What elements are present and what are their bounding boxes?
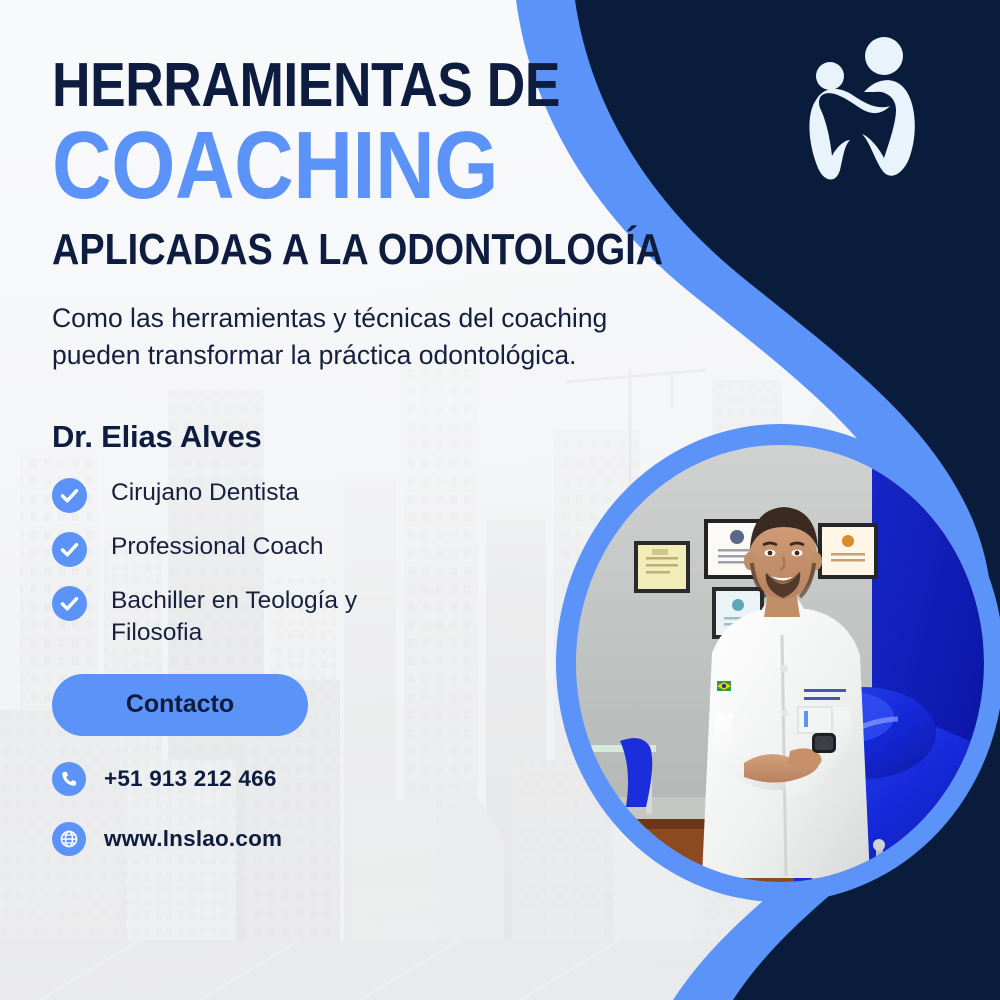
credential-label: Professional Coach [111,531,323,563]
lede-paragraph: Como las herramientas y técnicas del coa… [52,300,612,375]
check-circle-icon [52,478,87,513]
tooth-two-people-logo [786,28,934,188]
person-name: Dr. Elias Alves [52,419,672,455]
website-url: www.lnslao.com [104,826,282,852]
contact-website-row[interactable]: www.lnslao.com [52,822,672,856]
poster-canvas: HERRAMIENTAS DE COACHING APLICADAS A LA … [0,0,1000,1000]
globe-icon [52,822,86,856]
contact-phone-row[interactable]: +51 913 212 466 [52,762,672,796]
headline-line-2: COACHING [52,120,585,212]
content-column: HERRAMIENTAS DE COACHING APLICADAS A LA … [52,0,672,1000]
logo-large-head [865,37,903,75]
logo-tooth-right-body [862,80,915,176]
check-circle-icon [52,586,87,621]
phone-number: +51 913 212 466 [104,766,277,792]
credential-label: Bachiller en Teología y Filosofia [111,585,441,650]
credentials-list: Cirujano Dentista Professional Coach Bac… [52,477,672,650]
list-item: Professional Coach [52,531,672,567]
check-circle-icon [52,532,87,567]
credential-label: Cirujano Dentista [111,477,299,509]
list-item: Bachiller en Teología y Filosofia [52,585,672,650]
list-item: Cirujano Dentista [52,477,672,513]
logo-small-head [816,62,844,90]
phone-icon [52,762,86,796]
logo-tooth-left-body [809,89,890,180]
headline-line-3: APLICADAS A LA ODONTOLOGÍA [52,228,585,272]
contacto-button[interactable]: Contacto [52,674,308,736]
headline-line-1: HERRAMIENTAS DE [52,56,585,116]
